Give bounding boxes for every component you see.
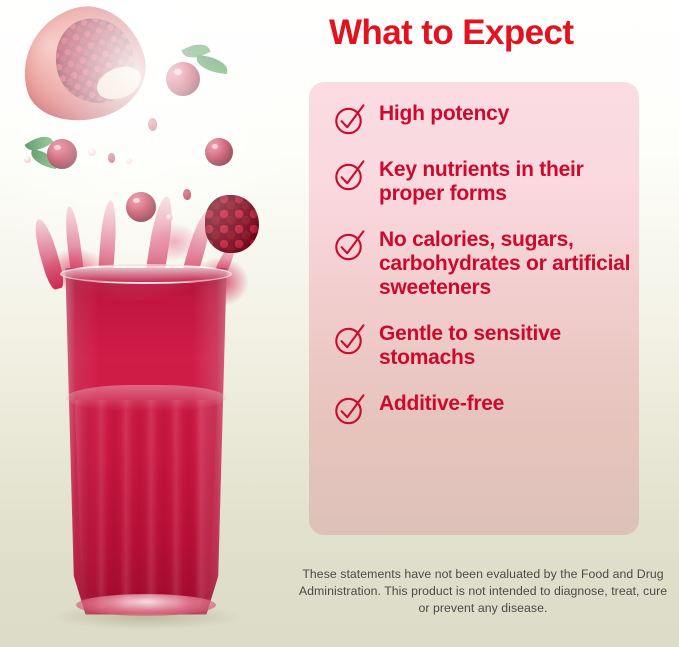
droplet [166,214,173,221]
cranberry [126,192,156,222]
list-item: Additive-free [333,390,633,426]
juice-surface [66,385,226,411]
list-item: No calories, sugars, carbohydrates or ar… [333,226,633,300]
cranberry [205,138,233,166]
splash-arm [177,209,216,294]
pomegranate-seedbed [46,9,145,113]
circle-check-icon [333,322,367,356]
splash-arm [30,217,66,291]
droplet [88,148,96,156]
juice-splash [24,196,274,331]
pomegranate-wedge [9,0,157,135]
cranberry [47,139,77,169]
pomegranate-aril [148,118,157,131]
splash-arm [97,200,118,293]
splash-arm [63,206,86,293]
pomegranate-aril-cluster [205,195,259,253]
leaf-icon [195,55,229,74]
glass-base [76,594,216,616]
glass-shadow [52,604,242,630]
list-item: High potency [333,100,633,136]
juice-glass [62,268,230,618]
pomegranate-pith [92,60,146,105]
droplet [24,156,31,163]
splash-arm [205,240,240,298]
list-item-label: Gentle to sensitive stomachs [379,320,633,370]
page-title: What to Expect [329,14,649,53]
list-item: Key nutrients in their proper forms [333,156,633,206]
circle-check-icon [333,102,367,136]
pomegranate-seeds [46,9,145,113]
leaf-icon [181,39,211,63]
circle-check-icon [333,228,367,262]
list-item-label: No calories, sugars, carbohydrates or ar… [379,226,633,300]
fda-disclaimer: These statements have not been evaluated… [293,566,673,617]
product-benefits-infographic: What to Expect High potency Key nutrient… [0,0,679,647]
glass-flutes [70,400,222,608]
list-item-label: Key nutrients in their proper forms [379,156,633,206]
image-highlight-wash [0,0,300,300]
pomegranate-aril [108,153,115,163]
splash-arm [143,195,177,293]
pomegranate-aril [183,189,191,200]
list-item-label: High potency [379,100,509,126]
circle-check-icon [333,392,367,426]
list-item: Gentle to sensitive stomachs [333,320,633,370]
benefits-list: High potency Key nutrients in their prop… [333,100,633,426]
cranberry [166,62,200,96]
glass-rim [60,264,232,284]
droplet [126,158,132,164]
list-item-label: Additive-free [379,390,504,416]
circle-check-icon [333,158,367,192]
leaf-icon [29,149,60,169]
leaf-icon [25,131,54,156]
